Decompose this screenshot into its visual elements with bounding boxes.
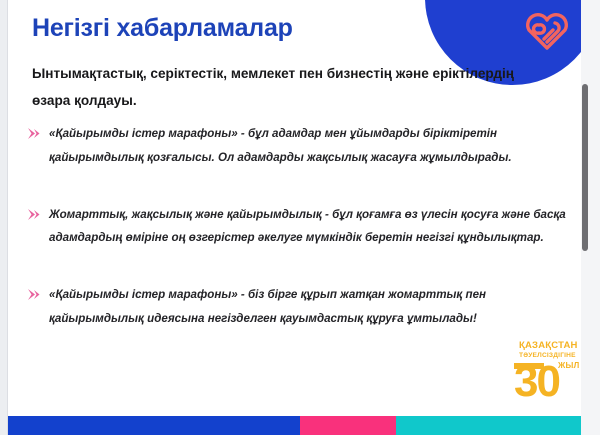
list-item-text: Жомарттық, жақсылық және қайырымдылық - … [49, 203, 571, 251]
slide-canvas: Негізгі хабарламалар Ынтымақтастық, сері… [8, 0, 589, 435]
bar-segment-blue [8, 416, 300, 435]
chevron-bullet-icon [26, 287, 42, 302]
bar-segment-teal [396, 416, 589, 435]
heart-icon [523, 8, 571, 52]
page-left-edge [0, 0, 8, 435]
list-item: Жомарттық, жақсылық және қайырымдылық - … [26, 203, 571, 251]
list-item-text: «Қайырымды істер марафоны» - бұл адамдар… [49, 122, 571, 170]
list-item: «Қайырымды істер марафоны» - біз бірге қ… [26, 283, 571, 331]
chevron-bullet-icon [26, 207, 42, 222]
scrollbar-thumb[interactable] [582, 84, 588, 251]
page-right-edge [589, 0, 600, 435]
slide-subtitle: Ынтымақтастық, серіктестік, мемлекет пен… [32, 60, 522, 114]
slide-title: Негізгі хабарламалар [32, 14, 293, 43]
bar-segment-pink [300, 416, 396, 435]
chevron-bullet-icon [26, 126, 42, 141]
list-item: «Қайырымды істер марафоны» - бұл адамдар… [26, 122, 571, 170]
bottom-color-bar [8, 416, 589, 435]
kazakhstan-30-years-emblem: ҚАЗАҚСТАН ТӘУЕЛСІЗДІГІНЕ ЖЫЛ 30 [500, 338, 584, 400]
list-item-text: «Қайырымды істер марафоны» - біз бірге қ… [49, 283, 571, 331]
svg-text:ҚАЗАҚСТАН: ҚАЗАҚСТАН [519, 340, 578, 351]
bullet-list: «Қайырымды істер марафоны» - бұл адамдар… [26, 122, 571, 364]
svg-text:ЖЫЛ: ЖЫЛ [557, 361, 580, 370]
